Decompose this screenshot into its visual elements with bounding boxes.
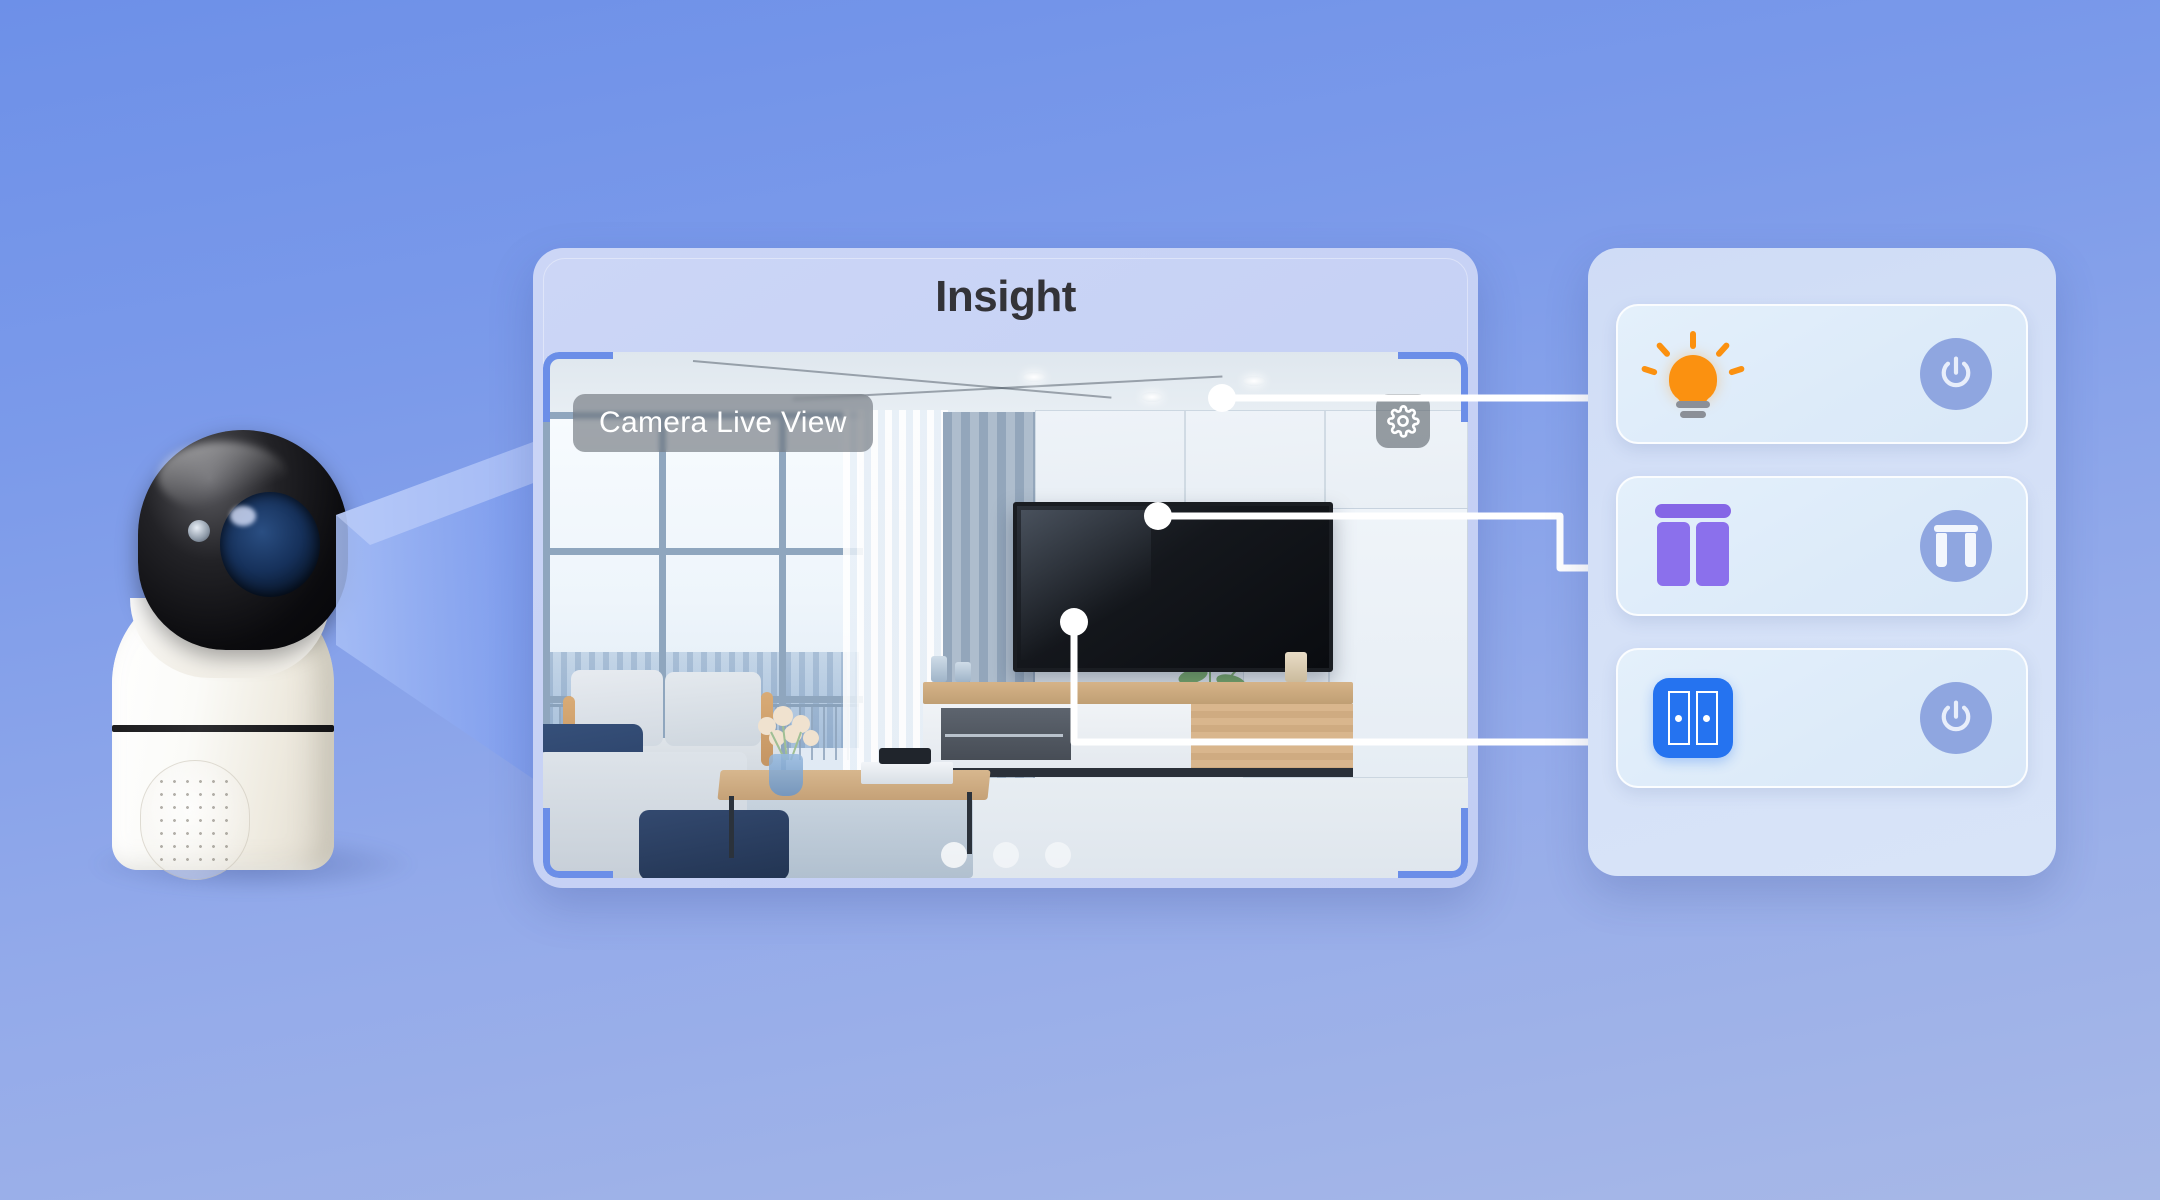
video-pagination-dots[interactable] — [941, 842, 1071, 868]
pagination-dot-3[interactable] — [1045, 842, 1071, 868]
control-card-blinds[interactable] — [1616, 476, 2028, 616]
frame-bracket-bottom-left — [543, 808, 613, 878]
page-title: Insight — [533, 272, 1478, 322]
camera-live-view-badge: Camera Live View — [573, 394, 873, 452]
camera-seam-line — [112, 725, 334, 732]
decor-canister — [1285, 652, 1307, 682]
coffee-table-leg — [729, 796, 734, 858]
settings-button[interactable] — [1376, 394, 1430, 448]
window-mullion — [543, 548, 863, 555]
blinds-icon — [1652, 505, 1734, 587]
sofa-cushion — [665, 672, 761, 746]
wall-mounted-tv — [1013, 502, 1333, 672]
light-bulb-icon — [1652, 333, 1734, 415]
decor-vase — [931, 656, 947, 682]
door-power-toggle[interactable] — [1920, 682, 1992, 754]
tv-screen-reflection — [1021, 510, 1151, 660]
gear-icon — [1386, 404, 1420, 438]
ceiling-spotlight — [1141, 392, 1163, 402]
ceiling-spotlight — [1243, 376, 1265, 386]
camera-device — [100, 430, 390, 880]
ceiling-spotlight — [1023, 372, 1045, 382]
camera-lens-highlight — [230, 506, 256, 526]
camera-speaker-grille — [140, 760, 250, 880]
control-card-light[interactable] — [1616, 304, 2028, 444]
control-card-door[interactable] — [1616, 648, 2028, 788]
power-icon — [1935, 697, 1977, 739]
media-console-wood-section — [1191, 704, 1353, 768]
table-books — [861, 762, 953, 784]
power-icon — [1935, 353, 1977, 395]
camera-video-feed[interactable]: Camera Live View — [543, 352, 1468, 878]
flower-vase — [769, 754, 803, 796]
blinds-toggle[interactable] — [1920, 510, 1992, 582]
navy-ottoman — [639, 810, 789, 878]
console-shelf-line — [945, 734, 1063, 737]
table-remote — [879, 748, 931, 764]
decor-vase — [955, 662, 971, 682]
camera-ir-sensor — [188, 520, 210, 542]
light-power-toggle[interactable] — [1920, 338, 1992, 410]
pagination-dot-1[interactable] — [941, 842, 967, 868]
media-console-top — [923, 682, 1353, 704]
pagination-dot-2[interactable] — [993, 842, 1019, 868]
curtain-icon — [1934, 525, 1978, 567]
insight-panel: Insight — [533, 248, 1478, 888]
double-door-icon — [1652, 677, 1734, 759]
frame-bracket-bottom-right — [1398, 808, 1468, 878]
device-control-panel — [1588, 248, 2056, 876]
